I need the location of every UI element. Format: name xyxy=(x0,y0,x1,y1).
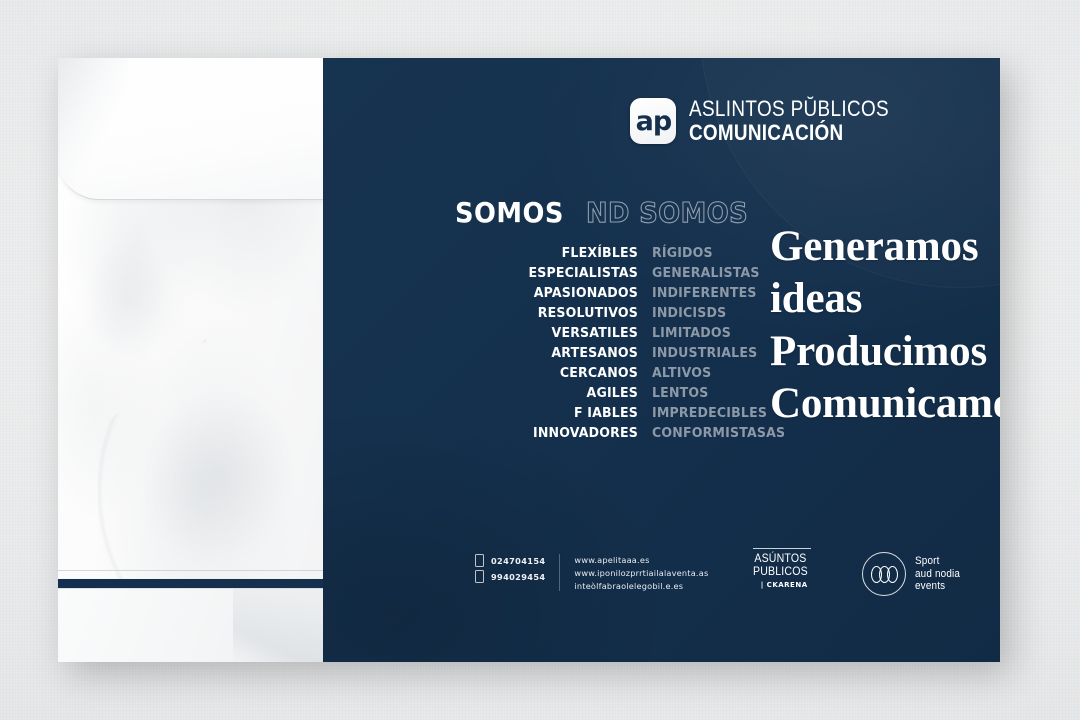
somos-yes-value: RESOLUTIVOS xyxy=(468,305,638,321)
somos-heading-yes: SOMOS xyxy=(455,196,564,229)
somos-yes-value: CERCANOS xyxy=(468,365,638,381)
navy-accent-stripe xyxy=(58,579,323,588)
logo-line-3: events xyxy=(915,580,960,593)
envelope-mockup: ap ASLINTOS PŬBLICOS COMUNICACIÓN SOMOS … xyxy=(58,58,1000,662)
phone-icon xyxy=(475,554,484,567)
brand-descriptor: COMUNICACIÓN xyxy=(689,122,889,144)
phone-number: 994029454 xyxy=(491,572,545,582)
somos-yes-value: ESPECIALISTAS xyxy=(468,265,638,281)
partner-logos: ASÚNTOS PUBLICOS | CKARENA Sport aud nod… xyxy=(753,546,1000,606)
somos-yes-value: APASIONADOS xyxy=(468,285,638,301)
somos-yes-value: VERSATILES xyxy=(468,325,638,341)
logo-line-2: aud nodia xyxy=(915,568,960,581)
contact-websites: www.apelitaaa.es www.iponilozprrtiailala… xyxy=(574,554,708,591)
logo-asuntos-publicos: ASÚNTOS PUBLICOS | CKARENA xyxy=(753,548,815,589)
sport-logo-text: Sport aud nodia events xyxy=(915,555,960,593)
envelope-lower-panel xyxy=(58,588,323,662)
envelope-navy-half: ap ASLINTOS PŬBLICOS COMUNICACIÓN SOMOS … xyxy=(323,58,1000,662)
somos-yes-value: AGILES xyxy=(468,385,638,401)
somos-heading-no: ND SOMOS xyxy=(586,196,748,229)
logo-line-1: LE FIRIESUA xyxy=(996,586,1000,595)
phone-icon xyxy=(475,570,484,583)
envelope-flap-edge xyxy=(58,58,128,199)
contact-block: 024704154 994029454 www.apelitaaa.es www… xyxy=(475,554,708,591)
logo-line-2: DE SOKIERA xyxy=(996,595,1000,604)
somos-yes-value: ARTESANOS xyxy=(468,345,638,361)
headline-line-3: Producimos xyxy=(770,326,1000,378)
website-url: www.apelitaaa.es xyxy=(574,555,708,565)
phone-row: 024704154 xyxy=(475,554,545,567)
phone-row: 994029454 xyxy=(475,570,545,583)
ap-logo-badge: ap xyxy=(630,98,676,144)
logo-firiesua: LE FIRIESUA DE SOKIERA xyxy=(996,546,1000,605)
brand-name: ASLINTOS PŬBLICOS xyxy=(689,98,889,120)
logo-line-3: | CKARENA xyxy=(753,581,815,589)
paper-smudge xyxy=(68,208,188,388)
somos-yes-value: FLEXÍBLES xyxy=(468,245,638,261)
logo-line-1: Sport xyxy=(915,555,960,568)
headline-line-4: Comunicamos xyxy=(770,378,1000,430)
somos-yes-value: INNOVADORES xyxy=(468,425,638,441)
contact-phones: 024704154 994029454 xyxy=(475,554,560,591)
envelope-seam xyxy=(58,570,323,571)
three-rings-icon xyxy=(862,552,906,596)
logo-line-2: PUBLICOS xyxy=(753,565,808,578)
ap-logo-text: ap xyxy=(636,108,672,135)
envelope-flap xyxy=(58,58,323,200)
headline-line-2: ideas xyxy=(770,273,1000,325)
logo-rule xyxy=(753,548,811,549)
logo-sport-events: Sport aud nodia events xyxy=(862,552,965,596)
lower-panel-sheen xyxy=(233,589,323,662)
brand-text: ASLINTOS PŬBLICOS COMUNICACIÓN xyxy=(689,98,922,145)
brand-lockup: ap ASLINTOS PŬBLICOS COMUNICACIÓN xyxy=(630,98,922,145)
envelope-white-half xyxy=(58,58,323,662)
headline-block: Generamos ideas Producimos Comunicamos xyxy=(770,221,1000,431)
website-url: www.iponilozprrtiailalaventa.as xyxy=(574,568,708,578)
somos-yes-value: F IABLES xyxy=(468,405,638,421)
website-url: inteòlfabraolelegobil.e.es xyxy=(574,581,708,591)
headline-line-1: Generamos xyxy=(770,221,1000,273)
phone-number: 024704154 xyxy=(491,556,545,566)
